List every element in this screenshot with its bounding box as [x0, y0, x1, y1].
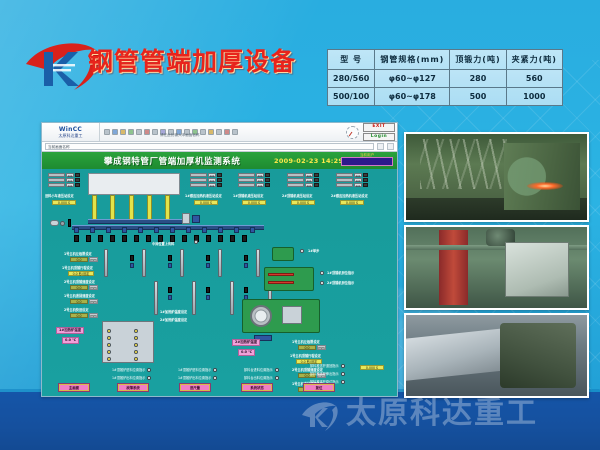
pipe-clamp	[206, 287, 210, 293]
indicator-row: 卸料台出料位置指示	[244, 375, 279, 380]
table-header-cell: 钢管规格(mm)	[375, 50, 450, 70]
page-title: 钢管管端加厚设备	[88, 42, 296, 78]
roller-support	[218, 227, 223, 233]
setpoint-tag	[363, 178, 368, 182]
station-led	[134, 336, 138, 340]
setpoint-tag	[265, 173, 270, 177]
setpoint-tag	[265, 183, 270, 187]
pipe-clamp	[206, 255, 210, 261]
feed-length-button[interactable]: 进尺量	[179, 383, 211, 392]
setpoint-bar[interactable]	[238, 178, 255, 182]
furnace-temp-label-right: 2#加热炉温度	[232, 339, 260, 346]
indicator-led	[147, 368, 151, 372]
roller-drive	[134, 235, 139, 242]
setpoint-value[interactable]: 0.0	[208, 183, 216, 187]
indicator-row: 1#顶锻炉进料位置指示	[112, 367, 151, 372]
setpoint-value[interactable]: 0.0	[354, 178, 362, 182]
setpoint-bar[interactable]	[336, 178, 353, 182]
setpoint-tag	[75, 173, 80, 177]
roller-drive	[74, 235, 79, 242]
pipe-clamp	[244, 255, 248, 261]
exit-button[interactable]: EXIT	[363, 123, 395, 132]
setpoint-tag	[217, 183, 222, 187]
indicator-led	[213, 368, 217, 372]
current-user-block: 当前用户	[341, 153, 393, 166]
indicator-row: 卸料推送杆退回指示	[310, 363, 345, 368]
indicator-row: 卸料台进料位置指示	[244, 367, 279, 372]
table-cell: φ60~φ178	[375, 88, 450, 106]
roller-support	[90, 227, 95, 233]
roller-support	[170, 227, 175, 233]
indicator-label: 1#顶锻炉进料位置指示	[178, 367, 211, 372]
pipe-clamp	[130, 255, 134, 261]
machine-column	[92, 195, 97, 221]
pipe-sensor	[168, 295, 172, 300]
roller-support	[106, 227, 111, 233]
setpoint-bar[interactable]	[238, 173, 255, 177]
upsetter-led-label: 1#顶锻机到位指示	[327, 270, 354, 275]
wincc-address-row: 当前画面名称	[42, 142, 397, 152]
pipe-clamp	[244, 287, 248, 293]
open-folder-icon[interactable]	[112, 129, 118, 135]
left-param-value[interactable]: 0.0 秒/设定	[68, 271, 94, 276]
pipe-sensor	[168, 263, 172, 268]
setpoint-bar[interactable]	[238, 183, 255, 187]
report-icon[interactable]	[208, 129, 214, 135]
setpoint-group[interactable]: 0.0 0.0 0.0	[287, 173, 319, 188]
roller-support	[234, 227, 239, 233]
toolbar-icon-strip[interactable]: 请在此处输入本画面名称	[100, 123, 341, 141]
upsetter-position-led	[320, 271, 324, 275]
station-led	[107, 336, 111, 340]
setpoint-group[interactable]: 0.0 0.0 0.0	[190, 173, 222, 188]
indicator-led	[275, 368, 279, 372]
middle-position-note: 中间位置上有料	[152, 241, 174, 246]
indicator-led	[341, 372, 345, 376]
equipment-photo-3	[404, 313, 589, 398]
hmi-title-bar: 攀成钢特管厂管端加厚机监测系统 2009-02-23 14:29:24 当前用户	[42, 152, 397, 169]
roller-support	[122, 227, 127, 233]
setpoint-value[interactable]: 0.0	[354, 183, 362, 187]
equipment-photo-1	[404, 132, 589, 222]
indicator-led	[147, 376, 151, 380]
setpoint-value[interactable]: 0.0	[66, 173, 74, 177]
left-param-unit: mm	[89, 285, 98, 290]
upsetter-ram	[268, 273, 294, 276]
setpoint-value[interactable]: 0.0	[208, 173, 216, 177]
upsetter-position-led	[320, 281, 324, 285]
roller-support	[154, 227, 159, 233]
main-screen-button[interactable]: 主画面	[58, 383, 90, 392]
setpoint-time-value[interactable]: 0.000 S	[242, 200, 266, 205]
login-button[interactable]: Login	[363, 133, 395, 142]
setpoint-value[interactable]: 0.0	[208, 178, 216, 182]
machine-column	[110, 195, 115, 221]
roller-support	[138, 227, 143, 233]
roller-support	[74, 227, 79, 233]
upsetter-ram	[268, 281, 294, 284]
setpoint-group[interactable]: 0.0 0.0 0.0	[336, 173, 368, 188]
setpoint-value[interactable]: 0.0	[305, 178, 313, 182]
furnace-temp-value-right[interactable]: 0.0 ℃	[238, 349, 255, 356]
table-cell: 560	[506, 70, 562, 88]
left-param-value[interactable]: 0.0	[70, 285, 88, 290]
pipe-sensor	[206, 263, 210, 268]
left-param-unit: mm	[89, 299, 98, 304]
indicator-label: 卸料台进料位置指示	[244, 367, 273, 372]
indicator-label: 1#顶锻炉出料位置指示	[178, 375, 211, 380]
roller-drive	[206, 235, 211, 242]
vertical-pipe	[192, 281, 196, 315]
hmi-mimic-diagram: 0.0 0.0 0.0 进料小车液压站设定 0.000 S 0.0 0.0 0.…	[42, 169, 397, 397]
wincc-toolbar: WinCC 太原科达重工 请在此处输入本画面名称 E	[42, 123, 397, 142]
trend-icon[interactable]	[200, 129, 206, 135]
indicator-label: 卸料推送杆伸出指示	[310, 371, 339, 376]
station-led	[134, 343, 138, 347]
setpoint-bar[interactable]	[48, 178, 65, 182]
equipment-photo-2	[404, 225, 589, 310]
roller-support	[202, 227, 207, 233]
setpoint-group-caption: 1#感应加热机液压站设定	[185, 193, 222, 198]
indicator-label: 卸料推送杆退回指示	[310, 363, 339, 368]
left-param-value[interactable]: 0.0	[70, 313, 88, 318]
left-param-unit: mm	[89, 257, 98, 262]
setpoint-value[interactable]: 0.0	[256, 178, 264, 182]
indicator-led	[213, 376, 217, 380]
roller-drive	[98, 235, 103, 242]
setpoint-bar[interactable]	[287, 178, 304, 182]
setpoint-group-caption: 1#顶锻机液压站设定	[233, 193, 263, 198]
vertical-pipe	[180, 249, 184, 277]
right-param-label: 1号主机顶锻行程设定	[290, 353, 321, 358]
upsetter-led-label: 2#顶锻机到位指示	[327, 280, 354, 285]
pipe-clamp	[168, 287, 172, 293]
page-header: 钢管管端加厚设备	[0, 34, 340, 90]
setpoint-bar[interactable]	[48, 173, 65, 177]
left-param-label: 1号主机左极限设定	[64, 251, 92, 256]
setpoint-group-caption: 2#顶锻机液压站设定	[282, 193, 312, 198]
help-icon[interactable]	[232, 129, 238, 135]
right-param-label: 1号主机左极限设定	[292, 339, 320, 344]
new-file-icon[interactable]	[104, 129, 110, 135]
setpoint-tag	[363, 173, 368, 177]
vertical-pipe	[154, 281, 158, 315]
station-led	[107, 343, 111, 347]
setpoint-group-caption: 进料小车液压站设定	[45, 193, 74, 198]
setpoint-tag	[217, 178, 222, 182]
setpoint-group[interactable]: 0.0 0.0 0.0	[48, 173, 80, 188]
indicator-row: 卸料推送杆伸出指示	[310, 371, 345, 376]
reset-button[interactable]: 复位	[303, 383, 335, 392]
hmi-system-title: 攀成钢特管厂管端加厚机监测系统	[104, 155, 241, 167]
table-cell: 280	[450, 70, 506, 88]
setpoint-bar[interactable]	[190, 173, 207, 177]
paste-icon[interactable]	[152, 129, 158, 135]
indicator-label: 1#顶锻炉进料位置指示	[112, 367, 145, 372]
left-param-label: 1号主机退回速度设定	[64, 293, 95, 298]
station-led	[107, 329, 111, 333]
system-status-button[interactable]: 系统状态	[241, 383, 273, 392]
station-led	[107, 357, 111, 361]
indicator-row: 1#顶锻炉进料位置指示	[178, 367, 217, 372]
vertical-pipe	[104, 249, 108, 277]
setpoint-bar[interactable]	[190, 183, 207, 187]
machine-column	[147, 195, 152, 221]
table-header-cell: 顶锻力(吨)	[450, 50, 506, 70]
indicator-label: 卸料台出料位置指示	[244, 375, 273, 380]
indicator-row: 1#顶锻炉出料位置指示	[112, 375, 151, 380]
table-cell: 500/100	[328, 88, 375, 106]
toolbar-note: 请在此处输入本画面名称	[160, 133, 200, 138]
station-led	[107, 350, 111, 354]
dropdown-button[interactable]	[377, 143, 384, 150]
cut-icon[interactable]	[136, 129, 142, 135]
screen-name-input[interactable]: 当前画面名称	[45, 143, 374, 150]
setpoint-tag	[217, 173, 222, 177]
vertical-pipe	[230, 281, 234, 315]
fault-system-button[interactable]: 故障系统	[117, 383, 149, 392]
side-note: 1#加热炉温度设定	[160, 309, 187, 314]
toolbar-gauge-icon	[341, 123, 363, 141]
roller-drive	[182, 235, 187, 242]
indicator-row: 1#顶锻炉出料位置指示	[178, 375, 217, 380]
setpoint-value[interactable]: 0.0	[305, 173, 313, 177]
left-param-value[interactable]: 0.0	[70, 299, 88, 304]
press-flywheel	[250, 305, 272, 327]
pipe-sensor	[244, 263, 248, 268]
corner-readout[interactable]: 0.000 S	[360, 365, 384, 370]
station-led	[134, 350, 138, 354]
furnace-temp-value-left[interactable]: 0.0 ℃	[62, 337, 79, 344]
hmi-panel: WinCC 太原科达重工 请在此处输入本画面名称 E	[41, 122, 398, 397]
setpoint-time-value[interactable]: 0.000 S	[291, 200, 315, 205]
vertical-pipe	[142, 249, 146, 277]
indicator-led	[275, 376, 279, 380]
left-param-unit: mm	[89, 313, 98, 318]
press-control-box	[282, 306, 302, 324]
setpoint-value[interactable]: 0.0	[66, 178, 74, 182]
setpoint-tag	[314, 183, 319, 187]
table-header-cell: 型 号	[328, 50, 375, 70]
roller-support	[186, 227, 191, 233]
side-note: 2#加热炉温度设定	[160, 317, 187, 322]
wincc-logo: WinCC 太原科达重工	[42, 123, 100, 141]
table-cell: φ60~φ127	[375, 70, 450, 88]
feed-motor	[50, 220, 59, 226]
right-param-value[interactable]: 0.0	[298, 345, 316, 350]
table-header-cell: 夹紧力(吨)	[506, 50, 562, 70]
middle-position-led	[194, 240, 198, 244]
table-header-row: 型 号 钢管规格(mm) 顶锻力(吨) 夹紧力(吨)	[328, 50, 563, 70]
pipe-clamp	[168, 255, 172, 261]
wincc-wordmark: WinCC	[59, 127, 82, 133]
upsetter-unit	[264, 267, 314, 291]
roller-support	[250, 227, 255, 233]
wincc-company-sub: 太原科达重工	[59, 134, 83, 138]
setpoint-bar[interactable]	[287, 183, 304, 187]
roller-drive	[86, 235, 91, 242]
discharge-cylinder	[182, 213, 190, 224]
setpoint-bar[interactable]	[336, 183, 353, 187]
machine-crossbeam	[88, 219, 184, 224]
setpoint-value[interactable]: 0.0	[256, 183, 264, 187]
current-user-value[interactable]	[341, 157, 393, 166]
table-cell: 280/560	[328, 70, 375, 88]
setpoint-value[interactable]: 0.0	[256, 173, 264, 177]
left-param-label: 1号主机顶锻行程设定	[62, 265, 93, 270]
setpoint-time-value[interactable]: 0.000 S	[194, 200, 218, 205]
furnace-temp-label-left: 1#加热炉温度	[56, 327, 84, 334]
vertical-pipe	[256, 249, 260, 277]
user-icon[interactable]	[224, 129, 230, 135]
roller-drive	[230, 235, 235, 242]
machine-column	[165, 195, 170, 221]
indicator-label: 1#顶锻炉出料位置指示	[112, 375, 145, 380]
setpoint-tag	[265, 178, 270, 182]
setpoint-time-value[interactable]: 0.000 S	[52, 200, 76, 205]
left-param-value[interactable]: 0.0	[70, 257, 88, 262]
discharge-motor	[192, 215, 200, 223]
setpoint-bar[interactable]	[190, 178, 207, 182]
setpoint-bar[interactable]	[48, 183, 65, 187]
setpoint-value[interactable]: 0.0	[66, 183, 74, 187]
bottom-blue-band	[0, 392, 600, 450]
go-button[interactable]	[387, 143, 394, 150]
table-row: 280/560 φ60~φ127 280 560	[328, 70, 563, 88]
setpoint-group[interactable]: 0.0 0.0 0.0	[238, 173, 270, 188]
table-row: 500/100 φ60~φ178 500 1000	[328, 88, 563, 106]
setpoint-time-value[interactable]: 0.000 S	[340, 200, 364, 205]
roller-drive	[122, 235, 127, 242]
copy-icon[interactable]	[144, 129, 150, 135]
setpoint-bar[interactable]	[336, 173, 353, 177]
setpoint-group-caption: 2#感应加热机液压站设定	[331, 193, 368, 198]
print-icon[interactable]	[128, 129, 134, 135]
end-roller	[60, 221, 65, 226]
right-param-unit: mm	[317, 345, 326, 350]
roller-drive	[110, 235, 115, 242]
side-note: 1#单步	[308, 248, 319, 253]
setpoint-tag	[75, 178, 80, 182]
setpoint-bar[interactable]	[287, 173, 304, 177]
table-cell: 500	[450, 88, 506, 106]
station-led	[134, 329, 138, 333]
hmi-button-bar: 主画面 故障系统 进尺量 系统状态 复位	[42, 383, 397, 394]
main-machine-housing	[88, 173, 180, 195]
setpoint-tag	[314, 178, 319, 182]
left-param-label: 2号主机快进设定	[64, 307, 89, 312]
specification-table: 型 号 钢管规格(mm) 顶锻力(吨) 夹紧力(吨) 280/560 φ60~φ…	[327, 49, 563, 106]
end-stop	[68, 219, 71, 227]
roller-drive	[146, 235, 151, 242]
table-cell: 1000	[506, 88, 562, 106]
induction-heater-unit	[272, 247, 294, 261]
setpoint-tag	[314, 173, 319, 177]
machine-column	[129, 195, 134, 221]
setpoint-value[interactable]: 0.0	[305, 183, 313, 187]
roller-drive	[218, 235, 223, 242]
save-icon[interactable]	[120, 129, 126, 135]
vertical-pipe	[218, 249, 222, 277]
setpoint-value[interactable]: 0.0	[354, 173, 362, 177]
station-led	[134, 357, 138, 361]
setpoint-tag	[75, 183, 80, 187]
pipe-sensor	[206, 295, 210, 300]
heater-status-led	[300, 249, 304, 253]
pipe-sensor	[130, 263, 134, 268]
indicator-led	[341, 364, 345, 368]
roller-drive	[242, 235, 247, 242]
settings-icon[interactable]	[216, 129, 222, 135]
setpoint-tag	[363, 183, 368, 187]
left-param-label: 2号主机顶锻速度设定	[64, 279, 95, 284]
